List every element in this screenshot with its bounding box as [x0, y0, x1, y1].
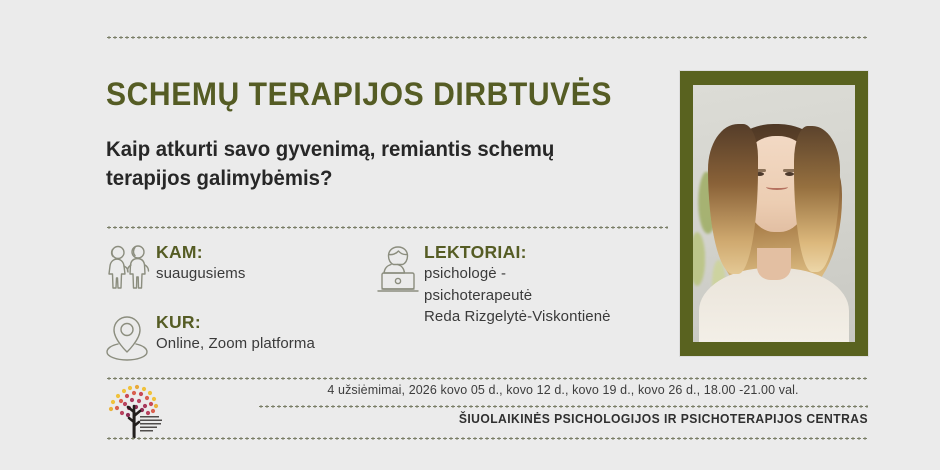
footer-session-dates: 4 užsiėmimai, 2026 kovo 05 d., kovo 12 d… — [258, 383, 868, 397]
portrait-eye-right — [785, 172, 794, 176]
info-value-location: Online, Zoom platforma — [156, 333, 315, 354]
footer-organization: ŠIUOLAIKINĖS PSICHOLOGIJOS IR PSICHOTERA… — [276, 412, 868, 426]
info-value-lecturers-line-2: psichoterapeutė — [424, 285, 611, 306]
portrait-mouth — [766, 184, 788, 190]
lecturer-photo — [693, 85, 855, 342]
page-subtitle: Kaip atkurti savo gyvenimą, remiantis sc… — [106, 136, 562, 194]
tree-logo — [104, 382, 166, 438]
info-column-left: KAM: suaugusiems KUR: Online, Zoom platf… — [98, 240, 368, 362]
info-row-location: KUR: Online, Zoom platforma — [98, 310, 368, 362]
map-pin-icon — [98, 310, 156, 362]
info-value-lecturers-line-3: Reda Rizgelytė-Viskontienė — [424, 306, 611, 327]
poster-canvas: SCHEMŲ TERAPIJOS DIRBTUVĖS Kaip atkurti … — [0, 0, 940, 470]
person-at-laptop-icon — [372, 240, 424, 294]
info-text-location: KUR: Online, Zoom platforma — [156, 310, 315, 355]
info-text-audience: KAM: suaugusiems — [156, 240, 245, 285]
info-row-lecturers: LEKTORIAI: psichologė - psichoterapeutė … — [372, 240, 672, 327]
divider-top — [106, 36, 868, 39]
info-label-audience: KAM: — [156, 242, 203, 262]
info-row-audience: KAM: suaugusiems — [98, 240, 368, 294]
info-label-lecturers: LEKTORIAI: — [424, 242, 527, 262]
divider-footer-bottom — [106, 437, 868, 440]
info-value-audience: suaugusiems — [156, 263, 245, 284]
info-label-location: KUR: — [156, 312, 201, 332]
two-people-icon — [98, 240, 156, 294]
lecturer-photo-frame — [680, 71, 868, 356]
info-text-lecturers: LEKTORIAI: psichologė - psichoterapeutė … — [424, 240, 611, 327]
info-column-right: LEKTORIAI: psichologė - psichoterapeutė … — [372, 240, 672, 327]
page-title: SCHEMŲ TERAPIJOS DIRBTUVĖS — [106, 76, 612, 113]
portrait-neck — [757, 248, 791, 280]
divider-under-heading — [106, 226, 668, 229]
divider-footer-top — [106, 377, 868, 380]
divider-footer-middle — [258, 405, 868, 408]
info-value-lecturers-line-1: psichologė - — [424, 263, 611, 284]
